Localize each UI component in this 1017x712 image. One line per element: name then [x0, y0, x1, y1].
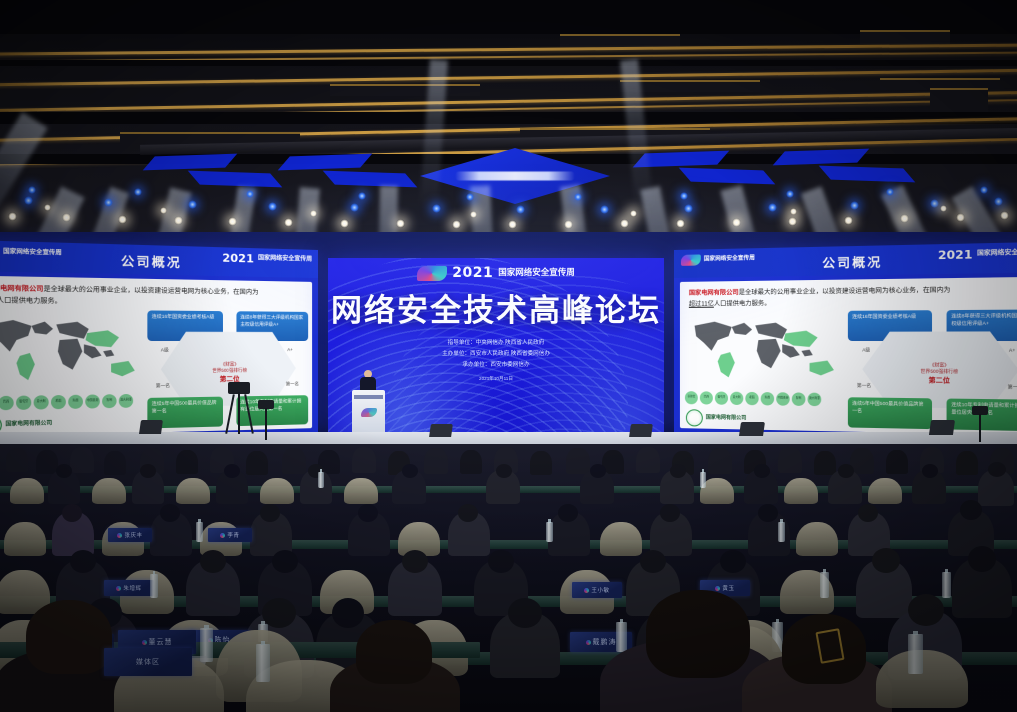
- audience-head: [590, 464, 606, 478]
- slide-population-figure: 超过11亿: [689, 301, 714, 308]
- podium-logo-icon: [361, 408, 377, 417]
- ceiling-chevron-decor: [679, 168, 776, 185]
- state-grid-globe-icon: [686, 409, 703, 426]
- country-pill: 澳大利亚: [119, 394, 133, 408]
- slide-company-lead: 国家电网有限公司: [689, 289, 739, 297]
- audience-head: [838, 464, 854, 478]
- audience-member: [530, 451, 552, 475]
- rank-label-top-right: A+: [1009, 347, 1015, 352]
- audience-head: [488, 550, 514, 573]
- audience-head: [670, 464, 686, 478]
- media-zone-placard: 媒体区: [104, 648, 192, 676]
- audience-member: [778, 447, 802, 473]
- audience-head: [140, 464, 156, 478]
- audience-head: [224, 464, 240, 478]
- ceiling-chevron-decor: [323, 171, 418, 188]
- audience-head: [496, 464, 512, 478]
- broadcast-camera-tripod: [258, 400, 274, 440]
- rank-label-bottom-right: 第一名: [286, 382, 299, 388]
- state-grid-company-cn: 国家电网有限公司: [5, 420, 52, 428]
- ceiling-chevron-decor: [819, 166, 916, 183]
- water-bottle: [700, 472, 706, 488]
- delegate-placard: 李青: [208, 528, 252, 542]
- slide-company-lead: 国家电网有限公司: [0, 285, 43, 294]
- ceiling-truss-area: [0, 0, 1017, 238]
- country-pill: 阿曼: [68, 395, 83, 409]
- audience-head: [988, 462, 1006, 477]
- audience-member: [104, 451, 126, 475]
- broadcast-camera-tripod: [228, 382, 250, 436]
- placard-logo-icon: [586, 640, 591, 645]
- country-pill: 智利: [102, 394, 116, 408]
- audience-member: [708, 448, 732, 474]
- audience-head: [358, 504, 378, 522]
- placard-logo-icon: [715, 586, 720, 591]
- country-pill: 菲律宾: [685, 391, 698, 404]
- water-bottle: [150, 574, 158, 598]
- state-grid-company-cn: 国家电网有限公司: [706, 415, 747, 422]
- forum-headline: 网络安全技术高峰论坛: [328, 285, 664, 330]
- placard-name: 戴鹏涛: [593, 637, 617, 647]
- ceiling-chevron-decor: [143, 154, 238, 171]
- audience-head: [260, 504, 280, 522]
- audience-head: [858, 504, 878, 522]
- event-date: 2021年10月11日: [328, 376, 664, 382]
- stage-monitor-speaker: [739, 422, 765, 436]
- conference-hall-photo: 国家网络安全宣传周 公司概况 2021 国家网络安全宣传周 国家电网有限公司是全…: [0, 0, 1017, 712]
- slide-week-cn: 国家网络安全宣传周: [258, 256, 312, 264]
- audience-seating-area: 张庆丰 李青: [0, 444, 1017, 712]
- credit-line: 指导单位：中央网信办 陕西省人民政府: [328, 338, 664, 349]
- cybersecurity-week-logo-main: 2021 国家网络安全宣传周: [417, 265, 574, 281]
- audience-member: [176, 450, 198, 474]
- country-pill: 阿曼: [761, 392, 774, 405]
- audience-head: [272, 550, 298, 573]
- rank-label-bottom-left: 第一名: [156, 383, 170, 389]
- placard-name: 王小敏: [591, 586, 609, 594]
- delegate-placard: 朱增辉: [104, 580, 154, 596]
- audience-head: [200, 550, 226, 573]
- audience-member: [636, 447, 660, 473]
- fortune-ranking-text: 《财富》 世界500强排行榜 第二位: [161, 361, 296, 384]
- country-pill: 葡萄牙: [16, 395, 31, 409]
- audience-seat: [4, 522, 46, 556]
- tripod-leg: [265, 408, 267, 440]
- water-bottle: [820, 572, 829, 598]
- water-bottle: [908, 634, 923, 674]
- country-pill: 巴西: [700, 391, 713, 404]
- water-bottle: [256, 644, 270, 682]
- audience-member: [956, 451, 978, 475]
- audience-head: [56, 464, 72, 478]
- country-pill-row: 菲律宾 巴西 葡萄牙 意大利 希腊 阿曼 中国香港 智利 澳大利亚: [0, 394, 133, 411]
- ceiling-chevron-decor: [278, 154, 373, 171]
- slide-header-right-logo: 2021 国家网络安全宣传周: [222, 251, 312, 266]
- audience-head: [160, 504, 180, 522]
- audience-head: [26, 600, 112, 674]
- tripod-leg: [979, 414, 981, 442]
- audience-seat: [176, 478, 210, 504]
- organizer-credits: 指导单位：中央网信办 陕西省人民政府 主办单位：西安市人民政府 陕西省委网信办 …: [328, 338, 664, 371]
- rank-label-top-right: A+: [287, 347, 292, 352]
- slide-year: 2021: [938, 248, 972, 263]
- country-pill: 智利: [792, 392, 806, 406]
- rank-label-top-left: A级: [161, 347, 169, 353]
- water-bottle: [616, 622, 627, 652]
- audience-seat: [868, 478, 902, 504]
- slide-paragraph: 国家电网有限公司是全球最大的公用事业企业，以投资建设运营电网为核心业务，在国内为…: [0, 282, 304, 310]
- slide-year: 2021: [222, 251, 254, 265]
- achievement-box-bottom-left: 连续5年中国500最具价值品牌第一名: [848, 397, 932, 429]
- slide-paragraph-rest: 是全球最大的公用事业企业，以投资建设运营电网为核心业务，在国内为: [739, 287, 951, 297]
- delegate-placard: 王小敏: [572, 582, 622, 598]
- achievement-box-group: 连续16年国资委业绩考核A级 连续8年获得三大评级机构国家主权级信用评级A+ 《…: [848, 309, 1017, 431]
- world-map-graphic: [684, 313, 842, 388]
- state-grid-logo: 国家电网有限公司: [686, 409, 746, 427]
- audience-head: [968, 546, 996, 572]
- audience-head: [640, 550, 666, 573]
- water-bottle: [942, 572, 951, 598]
- main-screen-logo-row: 2021 国家网络安全宣传周: [328, 265, 664, 286]
- country-pill: 中国香港: [776, 392, 790, 406]
- slide-paragraph-rest: 是全球最大的公用事业企业，以投资建设运营电网为核心业务，在国内为: [43, 286, 258, 297]
- water-bottle: [196, 522, 203, 542]
- audience-member: [36, 450, 58, 474]
- audience-member: [352, 447, 376, 473]
- country-pill: 中国香港: [85, 394, 100, 408]
- slide-body: 国家电网有限公司是全球最大的公用事业企业，以投资建设运营电网为核心业务，在国内为…: [680, 277, 1017, 436]
- audience-head: [758, 504, 778, 522]
- audience-seat: [784, 478, 818, 504]
- delegate-placard: 张庆丰: [108, 528, 152, 542]
- audience-head: [720, 550, 746, 573]
- world-map-graphic: [0, 311, 143, 391]
- rank-label-bottom-right: 第一名: [1008, 385, 1017, 392]
- placard-name: 朱增辉: [123, 584, 141, 592]
- audience-head: [558, 504, 578, 522]
- country-pill: 希腊: [745, 392, 758, 405]
- slide-paragraph: 国家电网有限公司是全球最大的公用事业企业，以投资建设运营电网为核心业务，在国内为…: [689, 283, 1017, 310]
- placard-name: 媒体区: [136, 657, 160, 667]
- right-projection-screen: 国家网络安全宣传周 公司概况 2021 国家网络安全宣传周 国家电网有限公司是全…: [674, 242, 1017, 440]
- placard-logo-icon: [117, 533, 122, 538]
- audience-member: [424, 448, 448, 474]
- broadcast-camera-tripod: [972, 406, 988, 442]
- water-bottle: [318, 472, 324, 488]
- audience-seat: [260, 478, 294, 504]
- audience-member: [566, 448, 590, 474]
- stage-monitor-speaker: [139, 420, 163, 434]
- fortune-rank: 第二位: [862, 374, 1017, 385]
- tripod-legs: [228, 394, 250, 434]
- audience-head: [332, 598, 364, 628]
- placard-name: 黄玉: [722, 584, 734, 592]
- slide-week-cn: 国家网络安全宣传周: [977, 250, 1017, 258]
- audience-seat: [796, 522, 838, 556]
- country-pill: 巴西: [0, 396, 14, 411]
- audience-head: [62, 504, 82, 522]
- audience-member: [6, 448, 28, 472]
- audience-head: [754, 464, 770, 478]
- placard-name: 董云慧: [149, 637, 173, 647]
- audience-head: [402, 464, 418, 478]
- placard-logo-icon: [142, 640, 147, 645]
- placard-name: 李青: [227, 531, 239, 539]
- audience-head: [356, 620, 432, 684]
- audience-head: [908, 594, 944, 626]
- fortune-ranking-text: 《财富》 世界500强排行榜 第二位: [862, 362, 1017, 385]
- slide-paragraph-tail: 人口提供电力服务。: [714, 301, 771, 309]
- country-pill: 澳大利亚: [808, 393, 822, 407]
- audience-head: [458, 504, 478, 522]
- country-pill: 意大利: [730, 392, 743, 405]
- water-bottle: [778, 522, 785, 542]
- audience-member: [282, 448, 306, 474]
- audience-head: [70, 550, 96, 573]
- country-pill: 葡萄牙: [715, 391, 728, 404]
- audience-seat: [10, 478, 44, 504]
- audience-head: [960, 500, 982, 520]
- placard-logo-icon: [220, 533, 225, 538]
- placard-logo-icon: [116, 586, 121, 591]
- country-pill: 意大利: [34, 395, 49, 409]
- event-name-cn: 国家网络安全宣传周: [498, 268, 575, 278]
- speaker-podium: [352, 390, 385, 434]
- audience-member: [70, 447, 94, 473]
- slide-paragraph-tail: 人口提供电力服务。: [0, 297, 62, 305]
- audience-head: [660, 504, 680, 522]
- audience-seat: [600, 522, 642, 556]
- audience-member: [246, 451, 268, 475]
- water-bottle: [546, 522, 553, 542]
- ceiling-chevron-decor: [188, 171, 283, 188]
- country-pill: 希腊: [51, 395, 66, 409]
- audience-head: [872, 548, 900, 573]
- credit-line: 主办单位：西安市人民政府 陕西省委网信办: [328, 349, 664, 360]
- slide-header-right-logo: 2021 国家网络安全宣传周: [938, 246, 1017, 262]
- audience-head: [646, 590, 750, 678]
- placard-name: 张庆丰: [124, 531, 142, 539]
- audience-seat: [92, 478, 126, 504]
- stage-monitor-speaker: [629, 424, 653, 437]
- podium-nameplate: [354, 395, 383, 399]
- rank-label-bottom-left: 第一名: [857, 383, 871, 389]
- audience-member: [886, 450, 908, 474]
- stage-monitor-speaker: [429, 424, 453, 437]
- placard-logo-icon: [584, 588, 589, 593]
- audience-seat: [344, 478, 378, 504]
- cybersecurity-week-ribbon-icon: [417, 266, 447, 281]
- rank-label-top-left: A级: [862, 347, 870, 353]
- country-pill-row: 菲律宾 巴西 葡萄牙 意大利 希腊 阿曼 中国香港 智利 澳大利亚: [685, 391, 821, 406]
- audience-head: [508, 598, 542, 628]
- event-year: 2021: [452, 265, 493, 281]
- stage-monitor-speaker: [929, 420, 955, 435]
- audience-member: [460, 450, 482, 474]
- credit-line: 承办单位：西安市委网信办: [328, 360, 664, 371]
- audience-member: [814, 451, 836, 475]
- audience-head: [922, 464, 938, 478]
- audience-head: [402, 550, 428, 573]
